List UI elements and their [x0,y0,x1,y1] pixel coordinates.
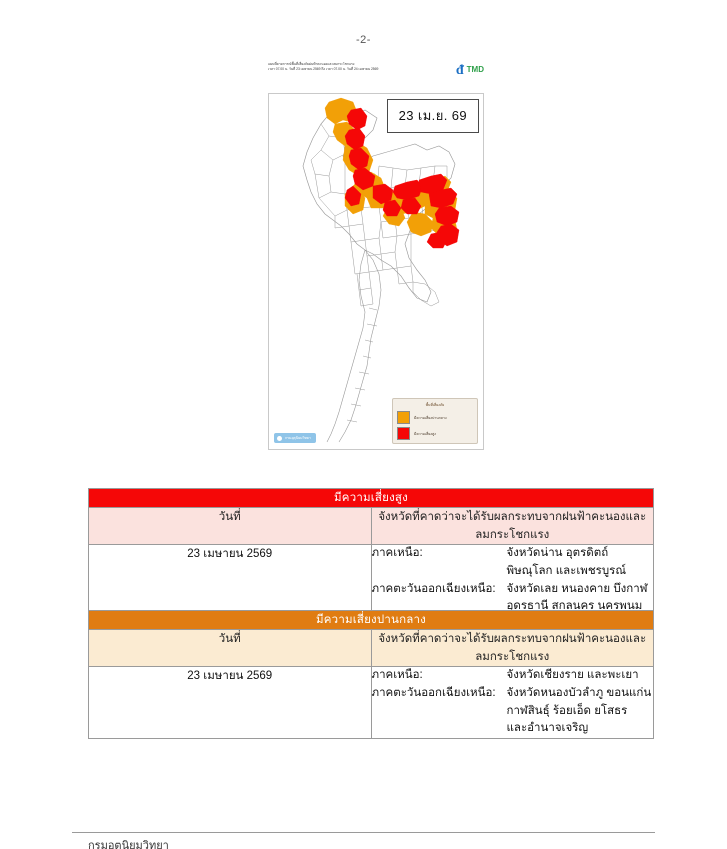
tmd-logo-mark: ᵭ [456,63,464,77]
tmd-logo: ᵭ TMD [456,63,484,77]
map-legend: พื้นที่เสี่ยงภัย มีความเสี่ยงปานกลาง มีค… [392,398,478,444]
thailand-risk-map: 23 เม.ย. 69 พื้นที่เสี่ยงภัย มีความเสี่ย… [268,93,484,450]
map-watermark: กรมอุตุนิยมวิทยา [274,433,316,443]
table-row: 23 เมษายน 2569 ภาคเหนือ: จังหวัดเชียงราย… [89,667,654,739]
region-name-north: ภาคเหนือ: [372,545,507,563]
region-entry-north: ภาคเหนือ: จังหวัดน่าน อุตรดิตถ์ พิษณุโลก… [372,545,654,581]
legend-swatch-high-icon [397,427,410,440]
watermark-dot-icon [277,436,282,441]
map-date-badge: 23 เม.ย. 69 [387,99,479,133]
legend-item-high: มีความเสี่ยงสูง [397,427,473,440]
map-caption-line-2: เวลา 07.00 น. วันที่ 23 เมษายน 2569 ถึง … [268,67,438,72]
table-header-row: วันที่ จังหวัดที่คาดว่าจะได้รับผลกระทบจา… [89,630,654,667]
table-header-row: วันที่ จังหวัดที่คาดว่าจะได้รับผลกระทบจา… [89,508,654,545]
legend-item-moderate: มีความเสี่ยงปานกลาง [397,411,473,424]
region-name-northeast: ภาคตะวันออกเฉียงเหนือ: [372,685,507,703]
high-table-col-date: วันที่ [89,508,372,545]
legend-label-high: มีความเสี่ยงสูง [414,431,436,437]
region-provinces-northeast-continued: และอำนาจเจริญ [372,720,654,738]
footer-divider [72,832,655,833]
page-number: -2- [0,34,727,46]
footer-text: กรมอุตุนิยมวิทยา [88,836,648,849]
moderate-row-date: 23 เมษายน 2569 [89,667,372,739]
watermark-label: กรมอุตุนิยมวิทยา [285,435,311,441]
legend-title: พื้นที่เสี่ยงภัย [397,402,473,408]
region-name-north: ภาคเหนือ: [372,667,507,685]
map-caption: แผนที่คาดการณ์พื้นที่เสี่ยงภัยฝนฟ้าคะนอง… [268,62,438,72]
high-risk-band-title: มีความเสี่ยงสูง [89,489,654,508]
legend-swatch-moderate-icon [397,411,410,424]
table-band-row: มีความเสี่ยงสูง [89,489,654,508]
region-provinces-north: จังหวัดเชียงราย และพะเยา [507,667,654,685]
moderate-risk-band-title: มีความเสี่ยงปานกลาง [89,611,654,630]
map-figure: แผนที่คาดการณ์พื้นที่เสี่ยงภัยฝนฟ้าคะนอง… [268,62,484,450]
moderate-row-regions: ภาคเหนือ: จังหวัดเชียงราย และพะเยา ภาคตะ… [371,667,654,739]
moderate-risk-table: มีความเสี่ยงปานกลาง วันที่ จังหวัดที่คาด… [88,610,654,739]
region-entry-north: ภาคเหนือ: จังหวัดเชียงราย และพะเยา [372,667,654,685]
moderate-table-col-date: วันที่ [89,630,372,667]
region-entry-northeast: ภาคตะวันออกเฉียงเหนือ: จังหวัดหนองบัวลำภ… [372,685,654,721]
table-band-row: มีความเสี่ยงปานกลาง [89,611,654,630]
tmd-logo-word: TMD [467,66,484,74]
thailand-map-svg [269,94,483,449]
region-name-northeast: ภาคตะวันออกเฉียงเหนือ: [372,581,507,599]
legend-label-moderate: มีความเสี่ยงปานกลาง [414,415,447,421]
region-provinces-north: จังหวัดน่าน อุตรดิตถ์ พิษณุโลก และเพชรบู… [507,545,654,581]
moderate-table-col-provinces: จังหวัดที่คาดว่าจะได้รับผลกระทบจากฝนฟ้าค… [371,630,654,667]
region-provinces-northeast: จังหวัดหนองบัวลำภู ขอนแก่น กาฬสินธุ์ ร้อ… [507,685,654,721]
high-table-col-provinces: จังหวัดที่คาดว่าจะได้รับผลกระทบจากฝนฟ้าค… [371,508,654,545]
